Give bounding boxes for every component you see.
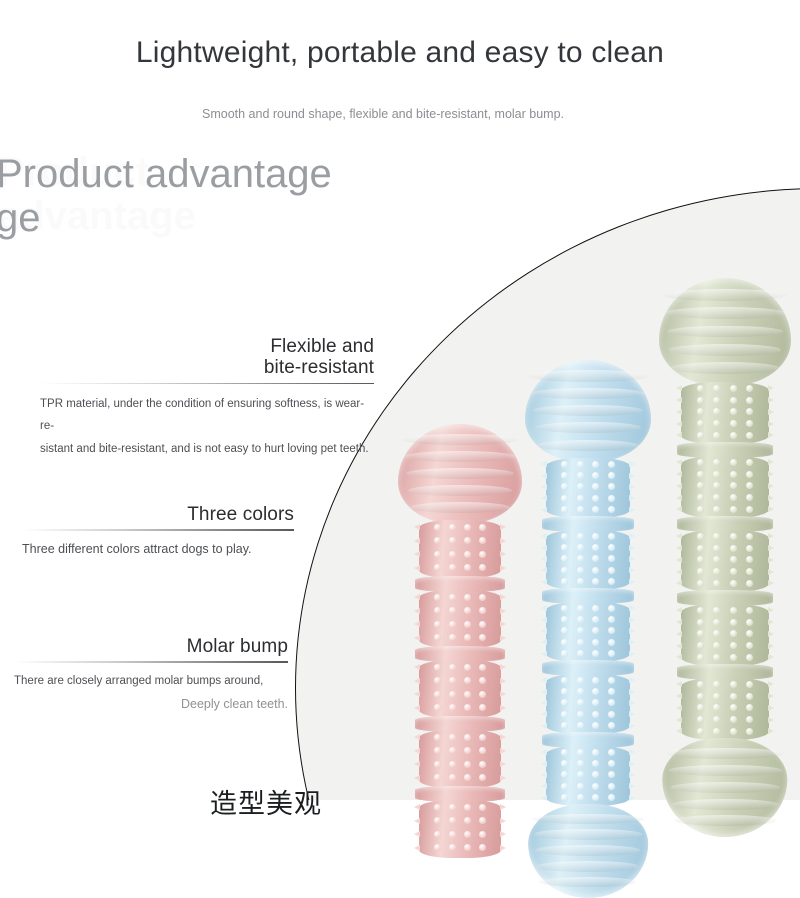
cut-off-caption: 造型美观 bbox=[210, 782, 322, 821]
toy-nub-row bbox=[546, 711, 630, 718]
toy-nub-row bbox=[546, 544, 630, 551]
toy-nub bbox=[449, 634, 456, 641]
toy-nub bbox=[608, 650, 615, 657]
toy-side-spike bbox=[676, 385, 682, 391]
toy-nub-row bbox=[546, 688, 630, 695]
toy-side-spike bbox=[414, 691, 420, 697]
toy-side-spike bbox=[541, 556, 547, 562]
toy-nub-row bbox=[546, 771, 630, 778]
toy-nub-row bbox=[546, 495, 630, 502]
toy-flared-end bbox=[659, 278, 791, 386]
section-heading-line1: Product advantage bbox=[0, 152, 332, 196]
toy-nub bbox=[592, 533, 599, 540]
toy-nub bbox=[464, 774, 471, 781]
toy-nub bbox=[434, 761, 441, 768]
toy-molar-bump-band bbox=[546, 602, 630, 662]
toy-nub bbox=[713, 397, 720, 404]
toy-molar-bump-band bbox=[419, 520, 501, 578]
toy-nub bbox=[561, 627, 568, 634]
toy-side-spike bbox=[500, 565, 506, 571]
toy-nub-row bbox=[681, 459, 769, 466]
toy-side-spike bbox=[768, 681, 774, 687]
toy-nub bbox=[746, 385, 753, 392]
toy-side-spike bbox=[500, 845, 506, 851]
toy-nub bbox=[449, 817, 456, 824]
toy-side-spike bbox=[500, 831, 506, 837]
toy-molar-bump-band bbox=[546, 530, 630, 590]
toy-nub bbox=[592, 567, 599, 574]
toy-rib bbox=[670, 782, 780, 793]
toy-nub bbox=[746, 681, 753, 688]
toy-nub bbox=[434, 804, 441, 811]
toy-nub bbox=[730, 654, 737, 661]
toy-nub bbox=[464, 704, 471, 711]
feature-desc-line-1: There are closely arranged molar bumps a… bbox=[14, 675, 263, 687]
toy-nub bbox=[561, 699, 568, 706]
toy-nub bbox=[746, 654, 753, 661]
toy-nub bbox=[730, 459, 737, 466]
toy-nub bbox=[713, 704, 720, 711]
toy-side-spike bbox=[768, 397, 774, 403]
toy-nub bbox=[561, 555, 568, 562]
toy-nub bbox=[730, 607, 737, 614]
toy-nub bbox=[577, 578, 584, 585]
toy-nub bbox=[577, 722, 584, 729]
toy-nub-row bbox=[419, 761, 501, 768]
toy-nub bbox=[592, 677, 599, 684]
toy-molar-bump-band bbox=[681, 382, 769, 444]
toy-side-spike bbox=[414, 734, 420, 740]
toy-molar-bump-band bbox=[419, 800, 501, 858]
toy-side-spike bbox=[676, 728, 682, 734]
toy-nub bbox=[697, 556, 704, 563]
toy-nub-row bbox=[546, 677, 630, 684]
toy-nub bbox=[608, 472, 615, 479]
toy-nub bbox=[592, 639, 599, 646]
toy-molar-bump-band bbox=[681, 456, 769, 518]
toy-side-spike bbox=[629, 545, 635, 551]
toy-nub-row bbox=[681, 397, 769, 404]
toy-nub bbox=[561, 639, 568, 646]
toy-nub bbox=[577, 639, 584, 646]
toy-nub bbox=[464, 747, 471, 754]
toy-side-spike bbox=[541, 639, 547, 645]
toy-side-spike bbox=[414, 775, 420, 781]
toy-nub bbox=[746, 494, 753, 501]
toy-nub-row bbox=[681, 408, 769, 415]
toy-nub bbox=[464, 551, 471, 558]
toy-molar-bump-band bbox=[681, 678, 769, 740]
toy-nub bbox=[479, 634, 486, 641]
toy-nub bbox=[561, 578, 568, 585]
toy-nub bbox=[713, 654, 720, 661]
toy-nub bbox=[713, 506, 720, 513]
toy-nub bbox=[730, 681, 737, 688]
toy-side-spike bbox=[541, 689, 547, 695]
toy-nub bbox=[434, 537, 441, 544]
toy-nub bbox=[608, 533, 615, 540]
toy-nub bbox=[464, 844, 471, 851]
toy-side-spike bbox=[541, 473, 547, 479]
toy-nub bbox=[479, 817, 486, 824]
toy-nub bbox=[730, 385, 737, 392]
toy-nub bbox=[449, 774, 456, 781]
toy-nub-row bbox=[546, 567, 630, 574]
toy-nub-row bbox=[419, 664, 501, 671]
toy-nub-row bbox=[546, 605, 630, 612]
toy-side-spike bbox=[541, 495, 547, 501]
toy-nub-row bbox=[681, 471, 769, 478]
toy-side-spike bbox=[500, 538, 506, 544]
toy-nub bbox=[713, 642, 720, 649]
toy-side-spike bbox=[500, 748, 506, 754]
toy-nub bbox=[479, 524, 486, 531]
toy-rib bbox=[671, 362, 778, 374]
toy-side-spike bbox=[414, 621, 420, 627]
toy-side-spike bbox=[629, 495, 635, 501]
toy-nub bbox=[434, 691, 441, 698]
feature-desc-line-2: Deeply clean teeth. bbox=[14, 692, 288, 716]
toy-nub bbox=[697, 693, 704, 700]
toy-nub bbox=[713, 471, 720, 478]
toy-nub bbox=[697, 630, 704, 637]
toy-nub-row bbox=[546, 472, 630, 479]
toy-side-spike bbox=[500, 635, 506, 641]
toy-molar-bump-band bbox=[419, 660, 501, 718]
toy-nub bbox=[434, 817, 441, 824]
toy-nub bbox=[608, 605, 615, 612]
toy-nub bbox=[697, 728, 704, 735]
toy-nub-row bbox=[681, 420, 769, 427]
toy-nub bbox=[592, 711, 599, 718]
toy-rib bbox=[536, 845, 641, 855]
toy-side-spike bbox=[414, 664, 420, 670]
toy-side-spike bbox=[768, 728, 774, 734]
toy-nub-row bbox=[681, 580, 769, 587]
toy-side-spike bbox=[768, 717, 774, 723]
toy-nub bbox=[697, 408, 704, 415]
toy-nub bbox=[697, 654, 704, 661]
toy-nub bbox=[730, 693, 737, 700]
toy-nub bbox=[561, 472, 568, 479]
toy-flared-end bbox=[662, 738, 787, 837]
toy-nub bbox=[434, 774, 441, 781]
toy-nub bbox=[608, 506, 615, 513]
toy-nub bbox=[746, 642, 753, 649]
toy-nub bbox=[479, 704, 486, 711]
toy-side-spike bbox=[541, 772, 547, 778]
page-headline: Lightweight, portable and easy to clean bbox=[0, 36, 800, 70]
toy-nub-row bbox=[546, 578, 630, 585]
toy-nub bbox=[746, 580, 753, 587]
toy-nub bbox=[449, 704, 456, 711]
toy-nub bbox=[746, 545, 753, 552]
toy-nub bbox=[464, 831, 471, 838]
toy-side-spike bbox=[768, 471, 774, 477]
feature-desc-line-1: TPR material, under the condition of ens… bbox=[40, 398, 364, 432]
toy-side-spike bbox=[768, 580, 774, 586]
toy-nub-row bbox=[419, 747, 501, 754]
toy-nub bbox=[713, 716, 720, 723]
toy-nub bbox=[577, 749, 584, 756]
toy-nub bbox=[464, 524, 471, 531]
toy-nub bbox=[608, 771, 615, 778]
toy-nub bbox=[592, 495, 599, 502]
toy-side-spike bbox=[500, 761, 506, 767]
toy-side-spike bbox=[414, 831, 420, 837]
toy-nub bbox=[730, 397, 737, 404]
toy-nub bbox=[608, 495, 615, 502]
toy-side-spike bbox=[676, 409, 682, 415]
toy-nub bbox=[577, 699, 584, 706]
toy-nub bbox=[577, 533, 584, 540]
feature-title: Three colors bbox=[22, 504, 294, 525]
toy-nub bbox=[464, 537, 471, 544]
toy-nub bbox=[434, 664, 441, 671]
toy-nub bbox=[561, 533, 568, 540]
toy-side-spike bbox=[629, 484, 635, 490]
toy-side-spike bbox=[414, 594, 420, 600]
toy-nub bbox=[746, 408, 753, 415]
toy-nub bbox=[449, 594, 456, 601]
toy-nub bbox=[730, 642, 737, 649]
toy-side-spike bbox=[541, 761, 547, 767]
toy-side-spike bbox=[541, 783, 547, 789]
toy-nub bbox=[479, 691, 486, 698]
toy-side-spike bbox=[541, 723, 547, 729]
toy-nub bbox=[697, 482, 704, 489]
toy-nub bbox=[746, 568, 753, 575]
toy-flared-end bbox=[525, 360, 651, 462]
toy-nub bbox=[479, 551, 486, 558]
toy-nub bbox=[592, 749, 599, 756]
toy-nub bbox=[713, 693, 720, 700]
toy-nub bbox=[608, 483, 615, 490]
toy-nub bbox=[479, 564, 486, 571]
toy-side-spike bbox=[414, 538, 420, 544]
toy-nub bbox=[697, 420, 704, 427]
toy-side-spike bbox=[768, 432, 774, 438]
toy-nub-row bbox=[681, 385, 769, 392]
feature-description: TPR material, under the condition of ens… bbox=[40, 393, 374, 460]
toy-side-spike bbox=[629, 556, 635, 562]
toy-nub-row bbox=[546, 783, 630, 790]
toy-nub bbox=[479, 844, 486, 851]
toy-nub bbox=[730, 556, 737, 563]
toy-side-spike bbox=[676, 397, 682, 403]
toy-side-spike bbox=[541, 677, 547, 683]
toy-nub bbox=[561, 650, 568, 657]
toy-nub bbox=[746, 728, 753, 735]
toy-side-spike bbox=[629, 507, 635, 513]
toy-nub bbox=[479, 761, 486, 768]
toy-nub bbox=[592, 760, 599, 767]
toy-side-spike bbox=[768, 409, 774, 415]
toy-side-spike bbox=[676, 717, 682, 723]
toy-nub bbox=[608, 783, 615, 790]
toy-nub bbox=[464, 564, 471, 571]
toy-nub-row bbox=[546, 506, 630, 513]
toy-nub-row bbox=[681, 642, 769, 649]
toy-nub bbox=[449, 621, 456, 628]
toy-side-spike bbox=[768, 483, 774, 489]
toy-nub bbox=[577, 616, 584, 623]
toy-nub bbox=[434, 831, 441, 838]
toy-nub bbox=[713, 728, 720, 735]
toy-side-spike bbox=[629, 700, 635, 706]
toy-nub bbox=[608, 578, 615, 585]
toy-nub bbox=[464, 734, 471, 741]
toy-nub bbox=[434, 747, 441, 754]
toy-side-spike bbox=[500, 818, 506, 824]
toy-nub bbox=[697, 459, 704, 466]
toy-nub bbox=[713, 420, 720, 427]
toy-rib bbox=[408, 485, 513, 496]
toy-side-spike bbox=[768, 654, 774, 660]
toy-rib bbox=[537, 861, 638, 871]
toy-nub bbox=[713, 556, 720, 563]
toy-rib bbox=[534, 829, 643, 839]
toy-side-spike bbox=[676, 654, 682, 660]
toy-nub bbox=[434, 634, 441, 641]
toy-nub bbox=[746, 459, 753, 466]
toy-nub bbox=[608, 616, 615, 623]
toy-side-spike bbox=[676, 483, 682, 489]
toy-nub bbox=[577, 650, 584, 657]
toy-rib bbox=[663, 289, 787, 301]
toy-side-spike bbox=[414, 761, 420, 767]
toy-nub bbox=[449, 524, 456, 531]
toy-side-spike bbox=[541, 700, 547, 706]
toy-nub bbox=[713, 494, 720, 501]
toy-nub-row bbox=[546, 749, 630, 756]
toy-nub bbox=[746, 506, 753, 513]
toy-side-spike bbox=[541, 567, 547, 573]
toy-nub bbox=[561, 783, 568, 790]
toy-nub bbox=[746, 607, 753, 614]
toy-nub bbox=[464, 817, 471, 824]
toy-nub bbox=[449, 564, 456, 571]
toy-side-spike bbox=[629, 579, 635, 585]
toy-side-spike bbox=[676, 681, 682, 687]
toy-nub-row bbox=[681, 693, 769, 700]
toy-nub-row bbox=[681, 704, 769, 711]
toy-nub-row bbox=[419, 677, 501, 684]
toy-nub bbox=[713, 385, 720, 392]
toy-nub bbox=[592, 627, 599, 634]
toy-side-spike bbox=[541, 507, 547, 513]
toy-nub-row bbox=[546, 627, 630, 634]
toy-nub-row bbox=[419, 524, 501, 531]
toy-nub-row bbox=[681, 545, 769, 552]
toy-nub bbox=[697, 545, 704, 552]
toy-nub bbox=[730, 420, 737, 427]
toy-nub bbox=[479, 664, 486, 671]
toy-nub bbox=[592, 699, 599, 706]
toy-side-spike bbox=[629, 617, 635, 623]
toy-side-spike bbox=[414, 705, 420, 711]
toy-nub bbox=[561, 461, 568, 468]
toy-nub-row bbox=[546, 760, 630, 767]
toy-side-spike bbox=[500, 678, 506, 684]
toy-nub bbox=[697, 533, 704, 540]
toy-side-spike bbox=[414, 524, 420, 530]
toy-nub bbox=[449, 831, 456, 838]
toy-nub bbox=[479, 774, 486, 781]
toy-rib bbox=[665, 307, 785, 319]
section-heading-line2: ge bbox=[0, 196, 41, 240]
feature-underline bbox=[22, 529, 294, 530]
toy-nub bbox=[434, 621, 441, 628]
toy-side-spike bbox=[414, 845, 420, 851]
toy-nub bbox=[746, 397, 753, 404]
toy-side-spike bbox=[629, 605, 635, 611]
toy-side-spike bbox=[541, 711, 547, 717]
toy-nub bbox=[608, 677, 615, 684]
toy-side-spike bbox=[629, 677, 635, 683]
toy-side-spike bbox=[676, 580, 682, 586]
toy-nub bbox=[449, 691, 456, 698]
toy-nub bbox=[697, 642, 704, 649]
toy-nub bbox=[577, 495, 584, 502]
toy-nub-row bbox=[681, 432, 769, 439]
toy-nub-row bbox=[419, 804, 501, 811]
toy-side-spike bbox=[629, 628, 635, 634]
toy-nub-row bbox=[681, 556, 769, 563]
toy-side-spike bbox=[676, 705, 682, 711]
toy-side-spike bbox=[629, 639, 635, 645]
toy-nub bbox=[713, 545, 720, 552]
toy-nub-row bbox=[681, 533, 769, 540]
toy-nub bbox=[561, 711, 568, 718]
toy-nub bbox=[577, 483, 584, 490]
toy-rib bbox=[531, 388, 645, 399]
toy-nub bbox=[434, 704, 441, 711]
toy-nub bbox=[434, 551, 441, 558]
product-image-green-chew-toy bbox=[650, 278, 800, 748]
toy-nub-row bbox=[681, 654, 769, 661]
toy-side-spike bbox=[768, 495, 774, 501]
toy-nub bbox=[592, 605, 599, 612]
toy-nub bbox=[713, 607, 720, 614]
toy-rib bbox=[537, 440, 639, 451]
toy-nub-row bbox=[681, 619, 769, 626]
toy-nub bbox=[449, 734, 456, 741]
toy-nub bbox=[746, 556, 753, 563]
toy-side-spike bbox=[768, 459, 774, 465]
toy-nub bbox=[697, 471, 704, 478]
toy-nub bbox=[464, 761, 471, 768]
toy-nub bbox=[449, 664, 456, 671]
toy-molar-bump-band bbox=[681, 604, 769, 666]
toy-nub bbox=[697, 432, 704, 439]
toy-side-spike bbox=[541, 579, 547, 585]
toy-nub-row bbox=[419, 734, 501, 741]
toy-side-spike bbox=[768, 506, 774, 512]
toy-nub-row bbox=[546, 699, 630, 706]
toy-nub-row bbox=[419, 594, 501, 601]
toy-nub bbox=[730, 533, 737, 540]
toy-side-spike bbox=[500, 551, 506, 557]
toy-nub bbox=[561, 495, 568, 502]
toy-nub bbox=[464, 691, 471, 698]
feature-block-three-colors: Three colors Three different colors attr… bbox=[22, 504, 294, 561]
toy-nub bbox=[746, 630, 753, 637]
toy-side-spike bbox=[629, 783, 635, 789]
toy-nub-row bbox=[681, 506, 769, 513]
toy-rib bbox=[532, 814, 645, 824]
toy-nub-row bbox=[681, 716, 769, 723]
